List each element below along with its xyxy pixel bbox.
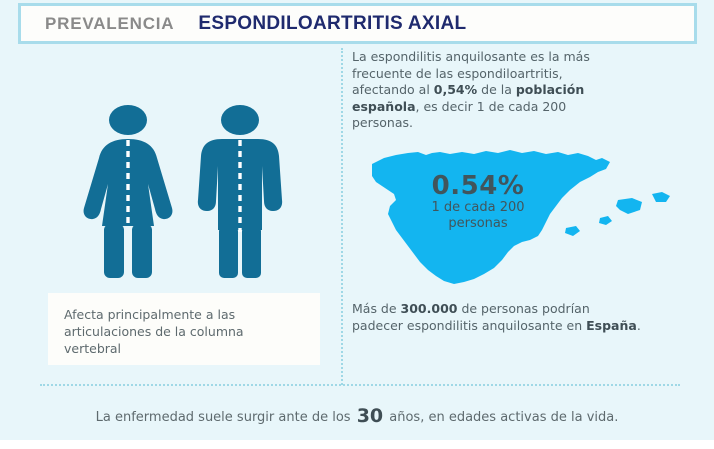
spain-note-part3: .	[637, 318, 641, 333]
footer-part2: años, en edades activas de la vida.	[385, 410, 618, 425]
infographic-page: PREVALENCIA ESPONDILOARTRITIS AXIAL	[0, 0, 714, 449]
spain-note-block: Más de 300.000 de personas podrían padec…	[352, 300, 642, 334]
footer-line: La enfermedad suele surgir ante de los 3…	[96, 405, 619, 427]
female-figure-icon	[84, 105, 173, 278]
male-figure-icon	[198, 105, 282, 278]
intro-text-block: La espondilitis anquilosante es la más f…	[352, 49, 622, 132]
spain-note-bold-country: España	[586, 318, 637, 333]
spain-note-bold-count: 300.000	[401, 301, 458, 316]
header-eyebrow-label: PREVALENCIA	[45, 14, 174, 34]
spine-note-box: Afecta principalmente a las articulacion…	[48, 293, 320, 365]
footer-age-value: 30	[355, 405, 385, 427]
header-banner: PREVALENCIA ESPONDILOARTRITIS AXIAL	[18, 3, 697, 44]
intro-part2: de la	[477, 82, 516, 97]
horizontal-dotted-divider	[40, 384, 680, 386]
footer-note: La enfermedad suele surgir ante de los 3…	[0, 405, 714, 427]
page-title: ESPONDILOARTRITIS AXIAL	[198, 13, 466, 35]
bottom-white-strip	[0, 440, 714, 449]
spine-note-text: Afecta principalmente a las articulacion…	[64, 306, 304, 357]
spain-mainland-shape	[372, 150, 610, 284]
footer-part1: La enfermedad suele surgir ante de los	[96, 410, 355, 425]
people-pictogram-group	[72, 104, 302, 282]
vertical-dotted-divider	[341, 48, 343, 385]
intro-paragraph: La espondilitis anquilosante es la más f…	[352, 49, 622, 132]
spain-note-paragraph: Más de 300.000 de personas podrían padec…	[352, 300, 642, 334]
spain-map-graphic	[370, 136, 690, 291]
spain-note-part1: Más de	[352, 301, 401, 316]
intro-bold-percentage: 0,54%	[434, 82, 477, 97]
balearic-islands-shape	[565, 192, 670, 236]
